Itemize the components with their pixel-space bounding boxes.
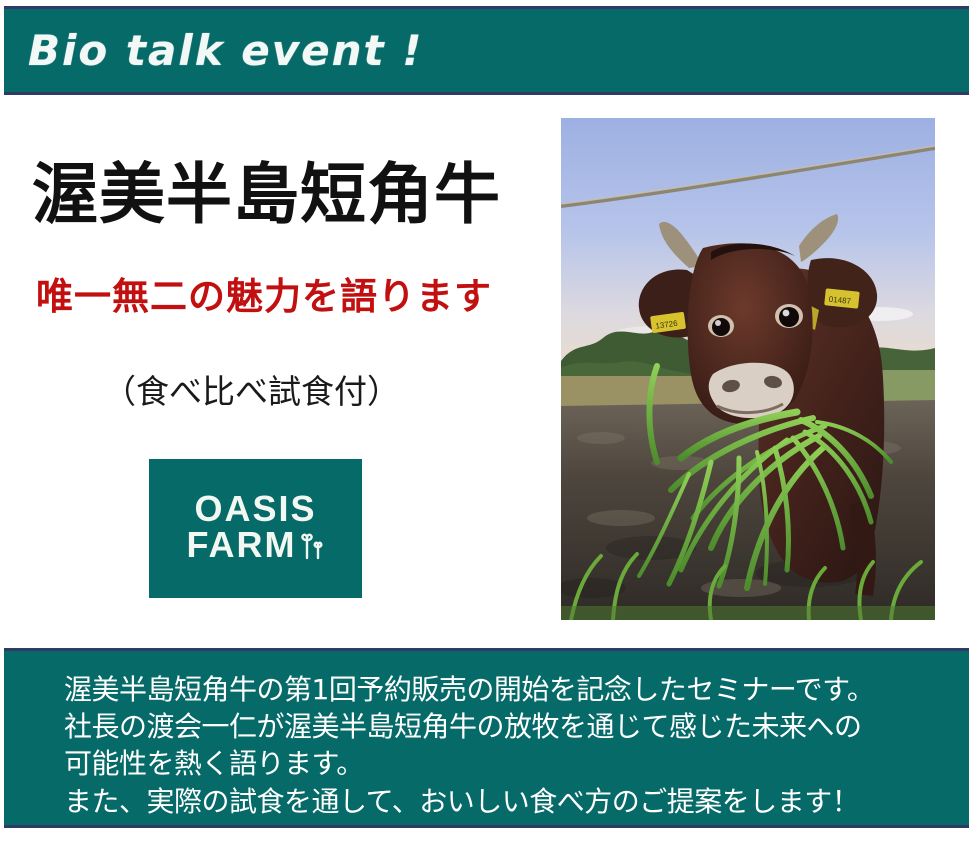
description-line-4: また、実際の試食を通して、おいしい食べ方のご提案をします！	[64, 783, 949, 820]
logo-line2-wrap: FARM	[187, 527, 325, 562]
header-banner: Bio talk event !	[4, 6, 969, 95]
description-text: 渥美半島短角牛の第1回予約販売の開始を記念したセミナーです。 社長の渡会一仁が渥…	[64, 671, 949, 820]
cow-photo: 13726 01487	[561, 118, 935, 620]
description-line-1: 渥美半島短角牛の第1回予約販売の開始を記念したセミナーです。	[64, 671, 949, 708]
sprout-icon	[299, 528, 325, 565]
oasis-farm-logo: OASIS FARM	[149, 459, 362, 598]
logo-text-farm: FARM	[187, 527, 297, 562]
header-title: Bio talk event !	[28, 26, 423, 75]
logo-inner: OASIS FARM	[187, 491, 325, 562]
poster-root: Bio talk event ! 渥美半島短角牛 唯一無二の魅力を語ります （食…	[0, 0, 973, 844]
page-title: 渥美半島短角牛	[32, 162, 501, 228]
logo-text-oasis: OASIS	[194, 491, 316, 526]
description-banner: 渥美半島短角牛の第1回予約販売の開始を記念したセミナーです。 社長の渡会一仁が渥…	[4, 648, 969, 828]
description-line-2: 社長の渡会一仁が渥美半島短角牛の放牧を通じて感じた未来への	[64, 708, 949, 745]
page-subtitle: 唯一無二の魅力を語ります	[36, 278, 492, 315]
tasting-note: （食べ比べ試食付）	[103, 375, 400, 408]
description-line-3: 可能性を熱く語ります。	[64, 745, 949, 782]
